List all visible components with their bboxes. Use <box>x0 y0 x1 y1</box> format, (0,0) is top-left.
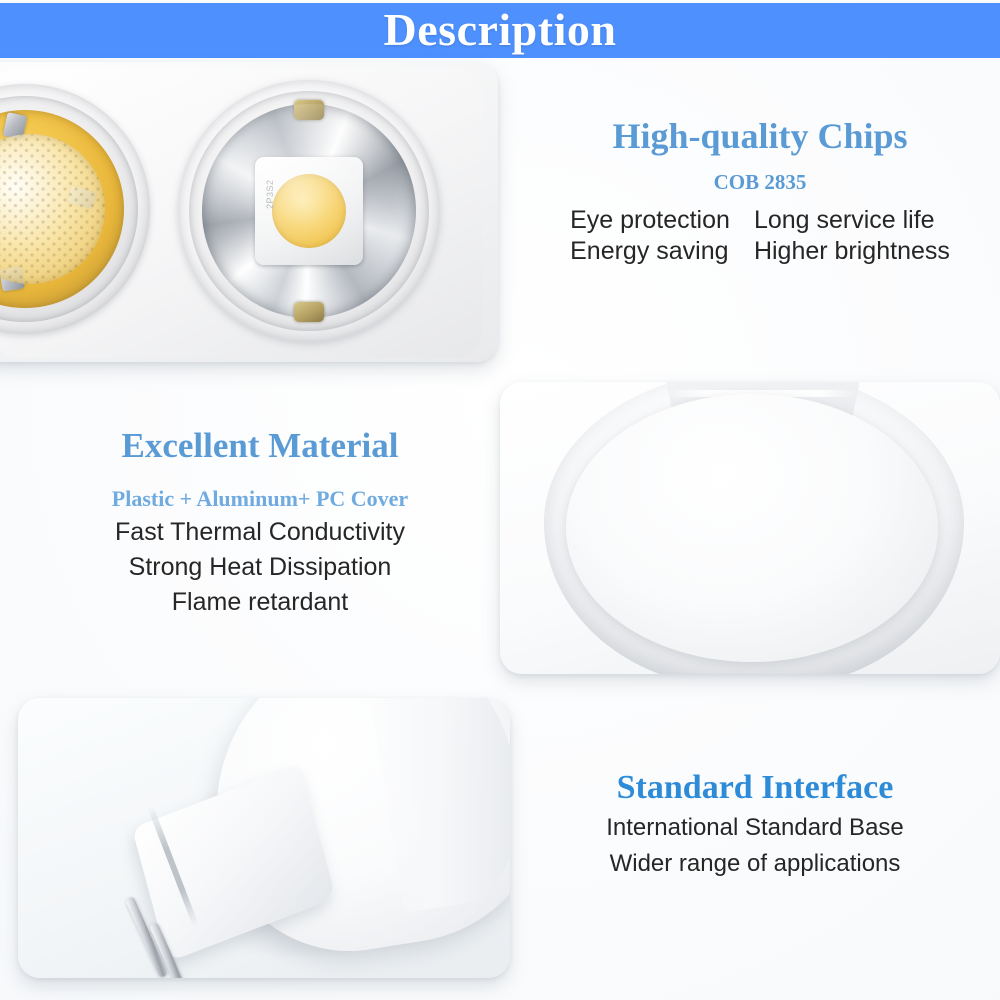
product-description-infographic: Description <box>0 0 1000 1000</box>
chips-feature-eye-protection: Eye protection <box>570 206 730 235</box>
section-high-quality-chips: High-quality Chips COB 2835 Eye protecti… <box>520 118 1000 266</box>
interface-heading: Standard Interface <box>520 770 990 806</box>
section-standard-interface: Standard Interface International Standar… <box>520 770 990 878</box>
page-title: Description <box>384 7 617 53</box>
photo-pc-cover <box>500 382 1000 674</box>
reflector-vane-2 <box>264 182 353 240</box>
cob-chip-plate: 2P3S2 <box>255 157 363 265</box>
chips-subtitle: COB 2835 <box>520 170 1000 195</box>
chip-code-label: 2P3S2 <box>265 183 275 209</box>
pc-cover-dome <box>566 394 938 662</box>
bulb-right-cob-reflector: 2P3S2 <box>178 80 440 342</box>
material-feature-flame-retardant: Flame retardant <box>30 588 490 617</box>
reflector-vane-1 <box>280 166 338 255</box>
interface-feature-standard-base: International Standard Base <box>520 814 990 842</box>
bulb-faces-scene: 2P3S2 <box>0 62 498 362</box>
solder-joint-top <box>294 100 324 120</box>
photo-gu53-base <box>18 698 510 978</box>
chips-feature-grid: Eye protection Long service life Energy … <box>520 206 1000 266</box>
material-feature-heat-dissipation: Strong Heat Dissipation <box>30 553 490 582</box>
material-subtitle: Plastic + Aluminum+ PC Cover <box>30 486 490 512</box>
photo-bulb-faces: 2P3S2 <box>0 62 498 362</box>
description-header-bar: Description <box>0 3 1000 58</box>
chips-heading: High-quality Chips <box>520 118 1000 156</box>
chips-feature-higher-brightness: Higher brightness <box>754 237 950 266</box>
solder-joint-bottom <box>294 302 324 322</box>
section-excellent-material: Excellent Material Plastic + Aluminum+ P… <box>30 428 490 617</box>
material-heading: Excellent Material <box>30 428 490 465</box>
chips-feature-energy-saving: Energy saving <box>570 237 730 266</box>
material-feature-thermal-conductivity: Fast Thermal Conductivity <box>30 518 490 547</box>
chips-feature-long-service-life: Long service life <box>754 206 950 235</box>
bulb-right-reflector: 2P3S2 <box>202 104 416 318</box>
interface-feature-wider-range: Wider range of applications <box>520 850 990 878</box>
cob-emitter <box>272 174 346 248</box>
